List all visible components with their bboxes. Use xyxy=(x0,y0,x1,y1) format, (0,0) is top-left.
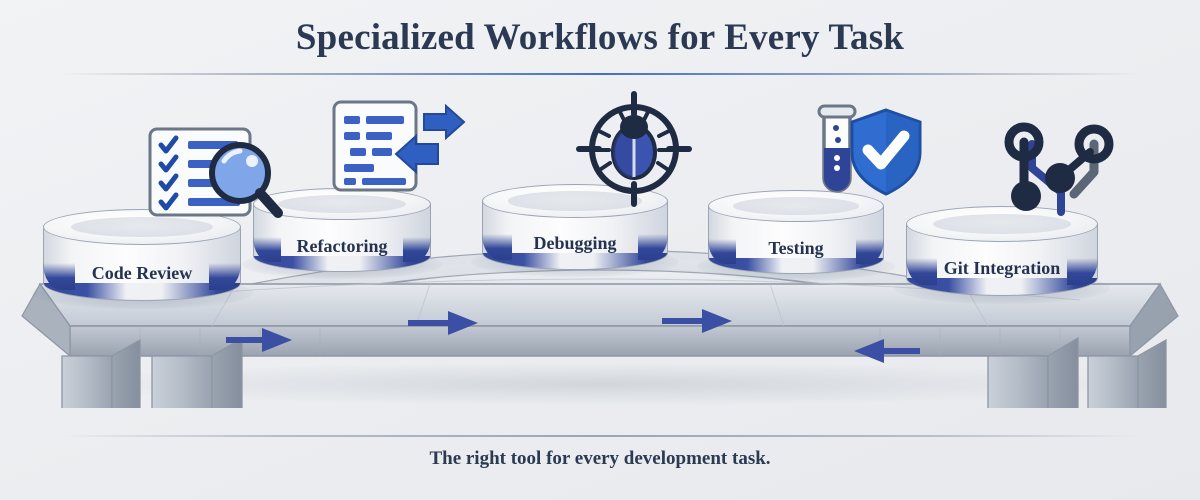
pedestal-code-review[interactable]: Code Review xyxy=(43,209,241,301)
header-divider xyxy=(60,73,1140,75)
page-title: Specialized Workflows for Every Task xyxy=(0,8,1200,68)
diagram-canvas: Specialized Workflows for Every Task xyxy=(0,0,1200,500)
pedestal-git-integration[interactable]: Git Integration xyxy=(906,206,1098,296)
page-header: Specialized Workflows for Every Task xyxy=(0,8,1200,68)
workflow-stage: Code Review xyxy=(0,88,1200,408)
page-footer: The right tool for every development tas… xyxy=(0,448,1200,470)
pedestal-debugging[interactable]: Debugging xyxy=(482,184,668,270)
footer-divider xyxy=(60,435,1140,437)
pedestal-testing[interactable]: Testing xyxy=(708,190,884,274)
footer-caption: The right tool for every development tas… xyxy=(0,448,1200,470)
